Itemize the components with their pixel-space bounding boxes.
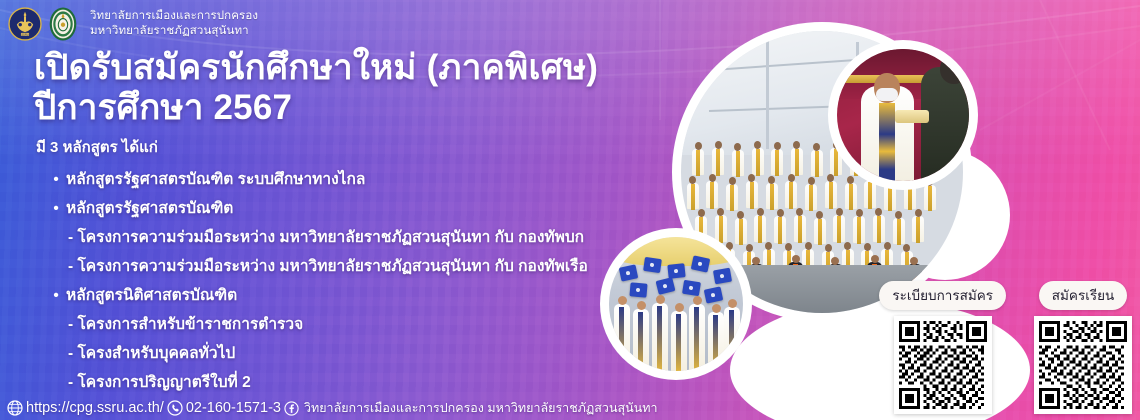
- list-item: - โครงการสำหรับข้าราชการตำรวจ: [46, 313, 588, 342]
- headline-block: เปิดรับสมัครนักศึกษาใหม่ (ภาคพิเศษ) ปีกา…: [34, 48, 598, 159]
- college-name: วิทยาลัยการเมืองและการปกครอง: [90, 9, 258, 24]
- qr-label: ระเบียบการสมัคร: [879, 281, 1006, 310]
- list-item: • หลักสูตรรัฐศาสตรบัณฑิต: [46, 197, 588, 226]
- facebook-page-name[interactable]: วิทยาลัยการเมืองและการปกครอง มหาวิทยาลัย…: [304, 398, 658, 418]
- bullet-icon: •: [46, 197, 66, 221]
- qr-admission-regulations-icon[interactable]: [894, 316, 992, 414]
- admission-banner: SSRU วิทยาลัยการเมืองและการปกครอง มหาวิท…: [0, 0, 1140, 420]
- facebook-icon: [284, 401, 299, 416]
- bullet-icon: •: [46, 284, 66, 308]
- bullet-icon: •: [46, 168, 66, 192]
- qr-code-section: ระเบียบการสมัคร: [879, 281, 1132, 414]
- title-line-2: ปีการศึกษา 2567: [34, 88, 598, 128]
- course-label: หลักสูตรรัฐศาสตรบัณฑิต: [66, 197, 233, 221]
- royal-emblem-logo: SSRU: [8, 7, 42, 41]
- list-item: • หลักสูตรนิติศาสตรบัณฑิต: [46, 284, 588, 313]
- globe-icon: [7, 400, 23, 416]
- list-item: - โครงการปริญญาตรีใบที่ 2: [46, 371, 588, 400]
- qr-apply-now[interactable]: สมัครเรียน: [1034, 281, 1132, 414]
- qr-admission-regulations[interactable]: ระเบียบการสมัคร: [879, 281, 1006, 414]
- brand-header: SSRU วิทยาลัยการเมืองและการปกครอง มหาวิท…: [8, 6, 258, 42]
- course-label: หลักสูตรรัฐศาสตรบัณฑิต ระบบศึกษาทางไกล: [66, 168, 365, 192]
- qr-label: สมัครเรียน: [1039, 281, 1127, 310]
- program-count-subtitle: มี 3 หลักสูตร ได้แก่: [36, 135, 598, 159]
- course-list: • หลักสูตรรัฐศาสตรบัณฑิต ระบบศึกษาทางไกล…: [46, 168, 588, 400]
- course-label: หลักสูตรนิติศาสตรบัณฑิต: [66, 284, 237, 308]
- course-sub-label: - โครงสำหรับบุคคลทั่วไป: [68, 342, 235, 366]
- course-sub-label: - โครงการสำหรับข้าราชการตำรวจ: [68, 313, 303, 337]
- phone-number[interactable]: 02-160-1571-3: [186, 400, 281, 416]
- list-item: - โครงสำหรับบุคคลทั่วไป: [46, 342, 588, 371]
- list-item: - โครงการความร่วมมือระหว่าง มหาวิทยาลัยร…: [46, 255, 588, 284]
- course-sub-label: - โครงการความร่วมมือระหว่าง มหาวิทยาลัยร…: [68, 226, 584, 250]
- list-item: • หลักสูตรรัฐศาสตรบัณฑิต ระบบศึกษาทางไกล: [46, 168, 588, 197]
- phone-icon: [167, 400, 183, 416]
- title-line-1: เปิดรับสมัครนักศึกษาใหม่ (ภาคพิเศษ): [34, 48, 598, 87]
- ssru-seal-logo: [48, 6, 78, 42]
- course-sub-label: - โครงการปริญญาตรีใบที่ 2: [68, 371, 251, 395]
- qr-apply-now-icon[interactable]: [1034, 316, 1132, 414]
- degree-ceremony-photo: [828, 40, 978, 190]
- institution-name: วิทยาลัยการเมืองและการปกครอง มหาวิทยาลัย…: [90, 9, 258, 38]
- website-url[interactable]: https://cpg.ssru.ac.th/: [26, 400, 164, 416]
- list-item: - โครงการความร่วมมือระหว่าง มหาวิทยาลัยร…: [46, 226, 588, 255]
- page-title: เปิดรับสมัครนักศึกษาใหม่ (ภาคพิเศษ) ปีกา…: [34, 48, 598, 128]
- graduation-caps-photo: [600, 228, 752, 380]
- contact-footer: https://cpg.ssru.ac.th/ 02-160-1571-3 วิ…: [6, 398, 657, 418]
- university-name: มหาวิทยาลัยราชภัฏสวนสุนันทา: [90, 24, 258, 39]
- course-sub-label: - โครงการความร่วมมือระหว่าง มหาวิทยาลัยร…: [68, 255, 588, 279]
